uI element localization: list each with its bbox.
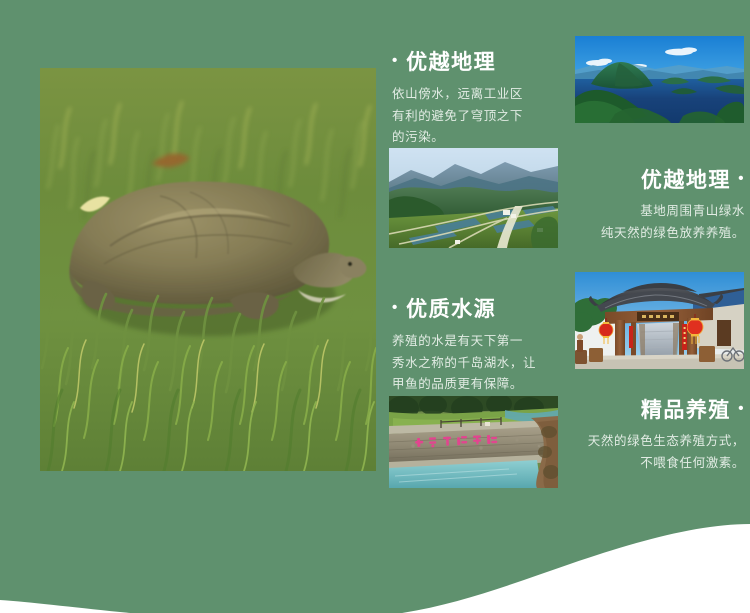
section-heading: • 优质水源 bbox=[392, 297, 572, 323]
bullet-dot-icon: • bbox=[392, 52, 399, 69]
section-heading: 精品养殖 • bbox=[560, 398, 745, 424]
section-body-text: 天然的绿色生态养殖方式， 不喂食任何激素。 bbox=[560, 431, 745, 474]
traditional-gate-photo bbox=[575, 272, 744, 369]
section-heading-text: 精品养殖 bbox=[641, 399, 731, 422]
lake-islands-photo bbox=[575, 36, 744, 123]
section-heading-text: 优越地理 bbox=[406, 51, 496, 74]
section-superior-geography-2: 优越地理 • 基地周围青山绿水 纯天然的绿色放养养殖。 bbox=[565, 168, 745, 244]
section-body-text: 养殖的水是有天下第一 秀水之称的千岛湖水，让 甲鱼的品质更有保障。 bbox=[392, 331, 572, 396]
section-heading-text: 优越地理 bbox=[641, 169, 731, 192]
section-heading-text: 优质水源 bbox=[406, 298, 496, 321]
bullet-dot-icon: • bbox=[738, 400, 745, 417]
aerial-valley-ponds-illustration bbox=[389, 148, 558, 248]
product-detail-banner: • 优越地理 依山傍水，远离工业区 有利的避免了穹顶之下 的污染。 bbox=[0, 0, 750, 613]
pond-embankment-illustration bbox=[389, 396, 558, 488]
section-heading: 优越地理 • bbox=[565, 168, 745, 194]
section-premium-breeding: 精品养殖 • 天然的绿色生态养殖方式， 不喂食任何激素。 bbox=[560, 398, 745, 474]
section-superior-geography: • 优越地理 依山傍水，远离工业区 有利的避免了穹顶之下 的污染。 bbox=[392, 50, 562, 149]
blue-lake-islands-illustration bbox=[575, 36, 744, 123]
pond-embankment-photo bbox=[389, 396, 558, 488]
bullet-dot-icon: • bbox=[738, 170, 745, 187]
hero-turtle-photo bbox=[40, 68, 376, 471]
chinese-gate-with-lanterns-illustration bbox=[575, 272, 744, 369]
section-heading: • 优越地理 bbox=[392, 50, 562, 76]
bullet-dot-icon: • bbox=[392, 299, 399, 316]
valley-fish-farm-photo bbox=[389, 148, 558, 248]
soft-shell-turtle-on-grass-illustration bbox=[40, 68, 376, 471]
section-quality-water-source: • 优质水源 养殖的水是有天下第一 秀水之称的千岛湖水，让 甲鱼的品质更有保障。 bbox=[392, 297, 572, 396]
section-body-text: 依山傍水，远离工业区 有利的避免了穹顶之下 的污染。 bbox=[392, 84, 562, 149]
section-body-text: 基地周围青山绿水 纯天然的绿色放养养殖。 bbox=[565, 201, 745, 244]
